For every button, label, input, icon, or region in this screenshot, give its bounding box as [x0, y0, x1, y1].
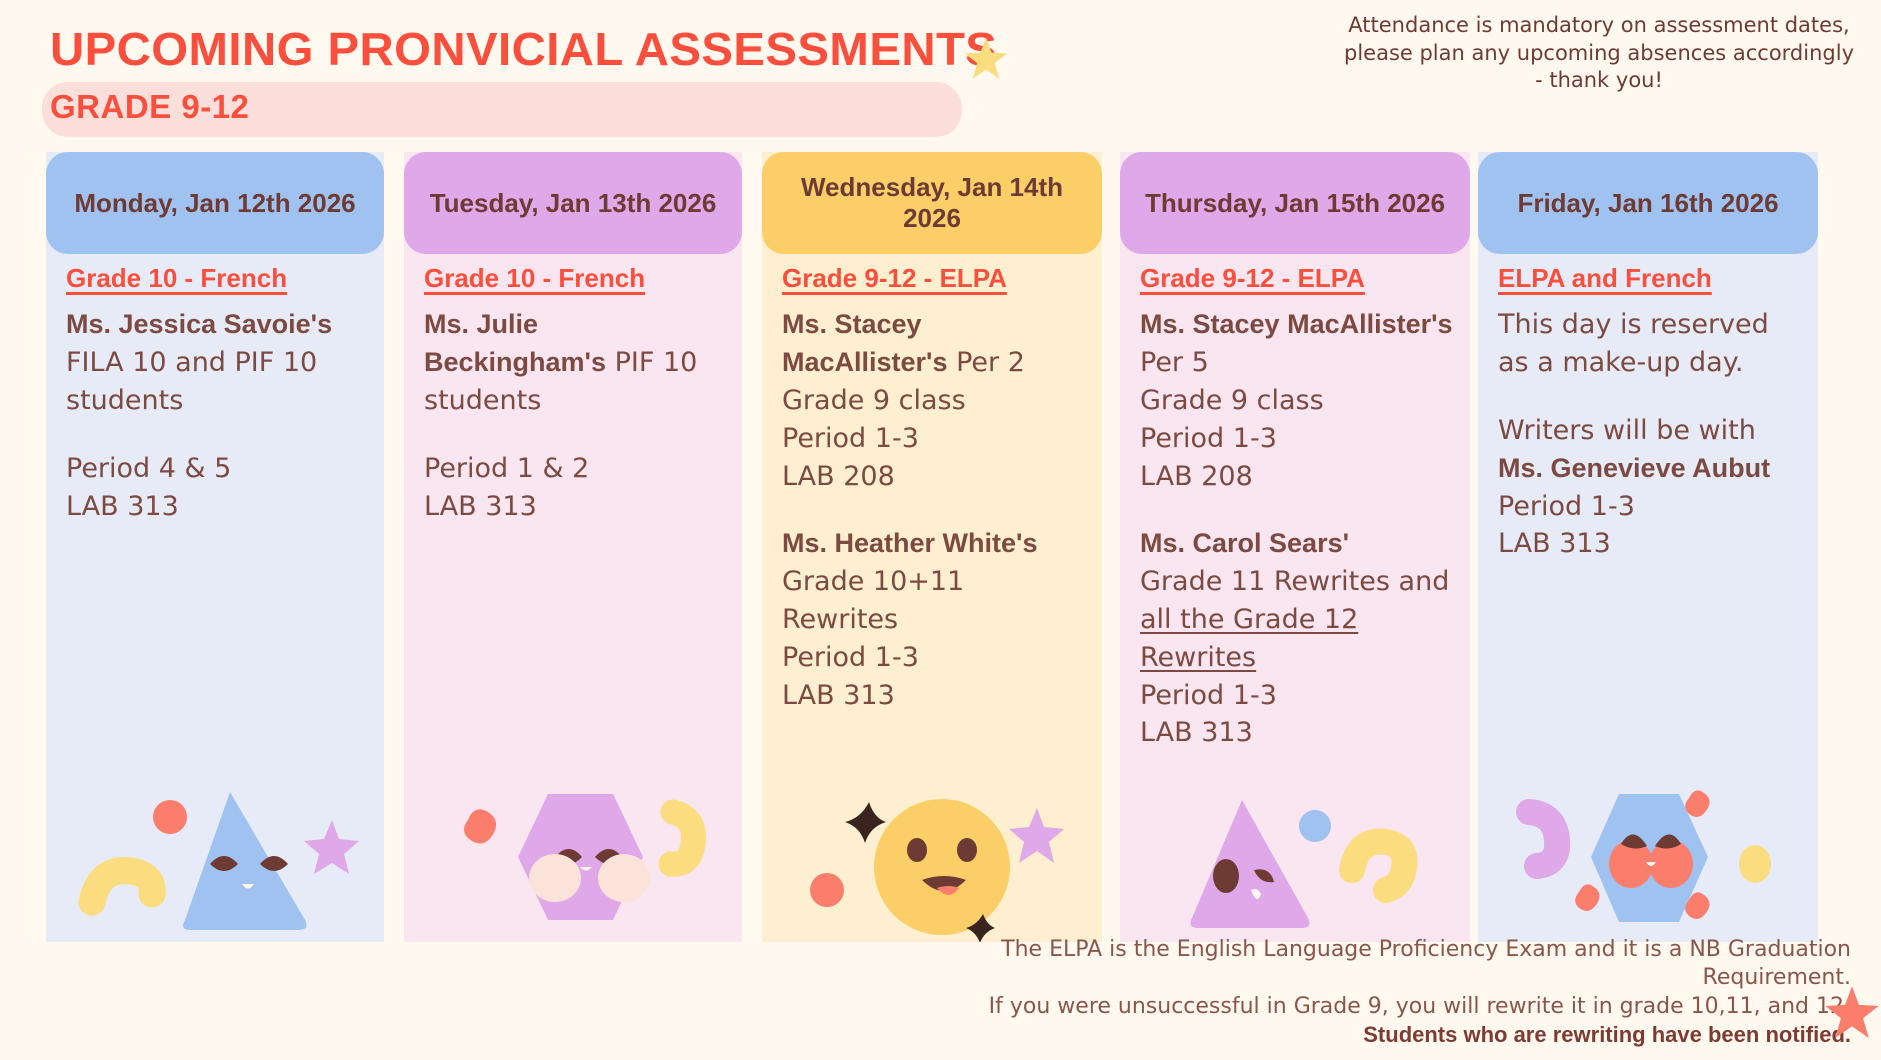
footer-line-2: If you were unsuccessful in Grade 9, you… [931, 993, 1851, 1022]
detail-text: Per 5 [1140, 347, 1209, 378]
day-heading-friday: ELPA and French [1498, 260, 1802, 296]
detail-text: Grade 11 Rewrites and [1140, 566, 1449, 597]
detail-text: Period 1-3 [782, 423, 919, 454]
grade-banner-label: GRADE 9-12 [50, 88, 249, 126]
detail-line: Ms. Carol Sears' [1140, 525, 1454, 563]
attendance-notice: Attendance is mandatory on assessment da… [1339, 12, 1859, 95]
eye-right [595, 849, 622, 864]
arc-decor [92, 871, 152, 902]
day-column-thursday: Thursday, Jan 15th 2026 Grade 9-12 - ELP… [1120, 152, 1470, 942]
tongue [937, 886, 959, 895]
mouth [242, 884, 254, 889]
star-icon [963, 36, 1009, 82]
day-body-wednesday: Grade 9-12 - ELPA Ms. Stacey MacAllister… [782, 260, 1086, 714]
sparkle-decor [845, 802, 886, 843]
detail-text: Period 4 & 5 [66, 453, 231, 484]
arc-decor [671, 812, 694, 864]
detail-block: Period 1 & 2LAB 313 [424, 450, 726, 526]
detail-line: LAB 313 [66, 488, 368, 526]
day-column-monday: Monday, Jan 12th 2026 Grade 10 - French … [46, 152, 384, 942]
detail-line: Ms. Jessica Savoie's FILA 10 and PIF 10 … [66, 306, 368, 419]
day-columns: Monday, Jan 12th 2026 Grade 10 - French … [0, 152, 1881, 942]
footer-line-1: The ELPA is the English Language Profici… [931, 936, 1851, 993]
eye-left [210, 856, 238, 871]
mouth [1646, 862, 1656, 866]
mouth [922, 876, 966, 891]
star-icon [1823, 984, 1881, 1042]
detail-text: Writers will be with [1498, 415, 1756, 446]
detail-line: Writers will be with Ms. Genevieve Aubut [1498, 412, 1802, 488]
detail-block: Period 4 & 5LAB 313 [66, 450, 368, 526]
winking-purple-triangle-illustration [1120, 772, 1470, 942]
detail-line: Grade 9 class [782, 382, 1086, 420]
detail-text: LAB 313 [66, 491, 179, 522]
detail-block: This day is reserved as a make-up day. [1498, 306, 1802, 382]
detail-block: Writers will be with Ms. Genevieve Aubut… [1498, 412, 1802, 563]
detail-text: Grade 10+11 Rewrites [782, 566, 964, 635]
detail-line: LAB 313 [424, 488, 726, 526]
teacher-name: Ms. Heather White's [782, 528, 1037, 558]
detail-text: Grade 9 class [1140, 385, 1324, 416]
hand-left [529, 854, 581, 902]
detail-text: LAB 313 [1498, 528, 1611, 559]
day-column-tuesday: Tuesday, Jan 13th 2026 Grade 10 - French… [404, 152, 742, 942]
header: UPCOMING PRONVICIAL ASSESSMENTS GRADE 9-… [0, 0, 1881, 150]
hand-right [598, 854, 650, 902]
detail-line: This day is reserved as a make-up day. [1498, 306, 1802, 382]
detail-text: all the Grade 12 Rewrites [1140, 604, 1358, 673]
day-heading-tuesday: Grade 10 - French [424, 260, 726, 296]
day-chip-friday: Friday, Jan 16th 2026 [1478, 152, 1818, 254]
star-decor [1009, 808, 1064, 863]
hexagon-body [518, 794, 643, 920]
teacher-name: Ms. Jessica Savoie's [66, 309, 332, 339]
detail-line: Period 1-3 [782, 639, 1086, 677]
detail-text: LAB 208 [782, 461, 895, 492]
arc-decor [1352, 842, 1405, 890]
eye-left [907, 838, 927, 862]
detail-line: Period 1-3 [782, 420, 1086, 458]
day-heading-wednesday: Grade 9-12 - ELPA [782, 260, 1086, 296]
day-body-monday: Grade 10 - French Ms. Jessica Savoie's F… [66, 260, 368, 525]
eye-left [1213, 859, 1239, 893]
detail-block: Ms. Jessica Savoie's FILA 10 and PIF 10 … [66, 306, 368, 419]
teacher-name: Ms. Julie Beckingham's [424, 309, 606, 377]
teacher-name: Ms. Stacey MacAllister's [782, 309, 948, 377]
detail-line: Period 1-3 [1140, 420, 1454, 458]
day-chip-wednesday: Wednesday, Jan 14th 2026 [762, 152, 1102, 254]
triangle-body [1190, 800, 1309, 928]
detail-text: LAB 313 [1140, 717, 1253, 748]
day-chip-tuesday: Tuesday, Jan 13th 2026 [404, 152, 742, 254]
footer-line-3: Students who are rewriting have been not… [931, 1021, 1851, 1050]
detail-block: Ms. Stacey MacAllister's Per 2Grade 9 cl… [782, 306, 1086, 495]
day-heading-monday: Grade 10 - French [66, 260, 368, 296]
heart-decor [1575, 884, 1599, 911]
eye-right [957, 838, 977, 862]
detail-text: Period 1 & 2 [424, 453, 589, 484]
detail-text: Per 2 [948, 347, 1025, 378]
detail-line: Grade 11 Rewrites and all the Grade 12 R… [1140, 563, 1454, 676]
eye-left [555, 849, 582, 864]
cheek-right [1649, 840, 1693, 888]
detail-line: Period 1-3 [1140, 677, 1454, 715]
detail-text: This day is reserved as a make-up day. [1498, 309, 1769, 378]
face-body [874, 799, 1010, 935]
star-decor [304, 820, 359, 874]
detail-line: LAB 313 [1140, 714, 1454, 752]
detail-block: Ms. Carol Sears'Grade 11 Rewrites and al… [1140, 525, 1454, 752]
detail-text: LAB 208 [1140, 461, 1253, 492]
cheek-left [1609, 840, 1653, 888]
dot-decor [153, 800, 187, 834]
detail-block: Ms. Julie Beckingham's PIF 10 students [424, 306, 726, 419]
detail-line: Period 1-3 [1498, 488, 1802, 526]
day-body-friday: ELPA and French This day is reserved as … [1498, 260, 1802, 563]
detail-line: Grade 9 class [1140, 382, 1454, 420]
detail-line: LAB 208 [782, 458, 1086, 496]
detail-text: LAB 313 [424, 491, 537, 522]
day-heading-thursday: Grade 9-12 - ELPA [1140, 260, 1454, 296]
eye-right [1655, 834, 1681, 848]
teacher-name: Ms. Genevieve Aubut [1498, 453, 1770, 483]
day-column-friday: Friday, Jan 16th 2026 ELPA and French Th… [1478, 152, 1818, 942]
eye-right [260, 856, 288, 871]
detail-text: Period 1-3 [1498, 491, 1635, 522]
dot-decor [1299, 810, 1331, 842]
eye-wink [1254, 869, 1274, 882]
dot-decor [810, 873, 844, 907]
heart-decor [1685, 892, 1709, 919]
teacher-name: Ms. Carol Sears' [1140, 528, 1349, 558]
detail-block: Ms. Heather White's Grade 10+11 Rewrites… [782, 525, 1086, 714]
teacher-name: Ms. Stacey MacAllister's [1140, 309, 1453, 339]
page-title: UPCOMING PRONVICIAL ASSESSMENTS [50, 22, 997, 76]
detail-line: LAB 313 [782, 677, 1086, 715]
detail-line: Ms. Heather White's Grade 10+11 Rewrites [782, 525, 1086, 638]
day-chip-monday: Monday, Jan 12th 2026 [46, 152, 384, 254]
detail-text: Period 1-3 [1140, 423, 1277, 454]
tooth [1251, 889, 1261, 899]
detail-line: Ms. Stacey MacAllister's Per 5 [1140, 306, 1454, 382]
detail-line: LAB 208 [1140, 458, 1454, 496]
detail-line: Period 4 & 5 [66, 450, 368, 488]
detail-line: Ms. Stacey MacAllister's Per 2 [782, 306, 1086, 382]
triangle-body [183, 792, 306, 930]
footer-note: The ELPA is the English Language Profici… [931, 936, 1851, 1050]
shy-purple-hexagon-illustration [404, 772, 742, 942]
hexagon-body [1591, 794, 1708, 922]
dot-decor [1739, 845, 1771, 883]
day-column-wednesday: Wednesday, Jan 14th 2026 Grade 9-12 - EL… [762, 152, 1102, 942]
heart-decor [464, 809, 496, 843]
day-body-tuesday: Grade 10 - French Ms. Julie Beckingham's… [424, 260, 726, 525]
happy-yellow-face-illustration [762, 772, 1102, 942]
detail-text: Period 1-3 [1140, 680, 1277, 711]
detail-text: Grade 9 class [782, 385, 966, 416]
detail-text: FILA 10 and PIF 10 students [66, 347, 317, 416]
heart-decor [1685, 790, 1709, 817]
detail-text: LAB 313 [782, 680, 895, 711]
detail-text: Period 1-3 [782, 642, 919, 673]
day-body-thursday: Grade 9-12 - ELPA Ms. Stacey MacAllister… [1140, 260, 1454, 752]
detail-block: Ms. Stacey MacAllister's Per 5Grade 9 cl… [1140, 306, 1454, 495]
eye-left [1621, 834, 1647, 848]
arc-decor [1529, 812, 1557, 866]
day-chip-thursday: Thursday, Jan 15th 2026 [1120, 152, 1470, 254]
loving-blue-hexagon-illustration [1478, 772, 1818, 942]
detail-line: LAB 313 [1498, 525, 1802, 563]
sleepy-blue-triangle-illustration [46, 772, 384, 942]
mouth [580, 867, 592, 871]
detail-line: Ms. Julie Beckingham's PIF 10 students [424, 306, 726, 419]
detail-line: Period 1 & 2 [424, 450, 726, 488]
